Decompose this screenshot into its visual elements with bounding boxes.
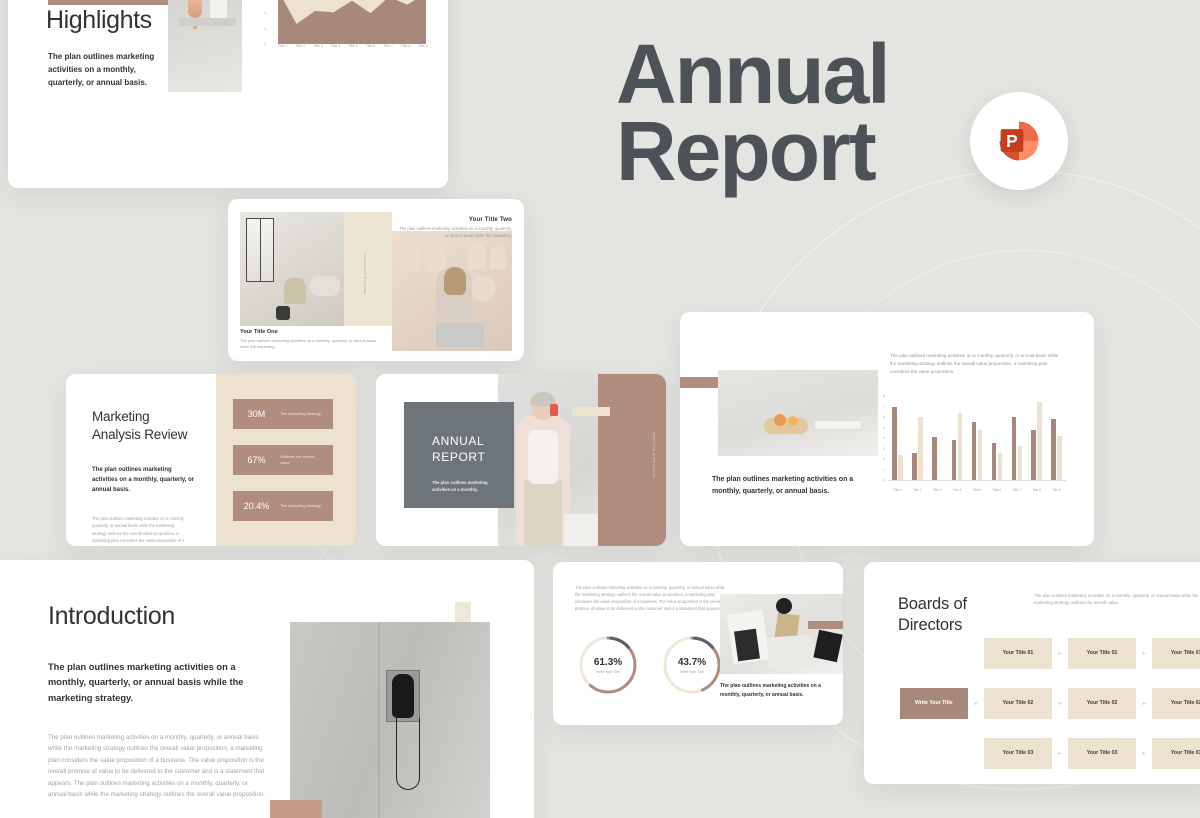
area-chart: considers the value proposition. 0246810…: [262, 0, 428, 99]
tray-shape: [178, 18, 236, 26]
bar-series-1: [912, 453, 917, 480]
accent-bar: [48, 0, 179, 5]
bar-chart-ytick: 8: [883, 394, 885, 398]
chair-shape: [284, 278, 306, 304]
arrow-icon: ▸: [1136, 650, 1152, 657]
donut-chart: 61.3%Write Your Title: [577, 634, 639, 696]
highlights-body: The plan outlines marketing activities o…: [48, 50, 168, 90]
slide-highlights[interactable]: Highlights The plan outlines marketing a…: [8, 0, 448, 188]
boards-box[interactable]: Your Title 03: [1152, 738, 1200, 769]
slide-donut-charts[interactable]: The plan outlines marketing activities o…: [553, 562, 843, 725]
area-chart-xtick: Title 9: [418, 44, 428, 48]
shelf-niche-shape: [468, 241, 486, 269]
bar-series-2: [958, 413, 963, 480]
bar-series-1: [952, 440, 957, 480]
bar-group: [1029, 396, 1044, 480]
vertical-side-text: marketing presentation: [363, 251, 367, 294]
introduction-title: Introduction: [48, 602, 175, 631]
bar-chart-desc: The plan outlines marketing activities o…: [890, 352, 1062, 376]
woman-laptop-photo: [392, 231, 512, 351]
bar-chart-ytick: 3: [883, 447, 885, 451]
stat-value: 20.4%: [233, 501, 280, 511]
powerpoint-glyph: P: [993, 115, 1045, 167]
slide-marketing-analysis[interactable]: Marketing Analysis Review The plan outli…: [66, 374, 356, 546]
bar-chart-x-axis: Title 1Title 2Title 3Title 4Title 5Title…: [890, 488, 1064, 492]
analysis-title-line1: Marketing: [92, 408, 216, 426]
bar-series-1: [972, 422, 977, 480]
bar-chart-xtick: Title 4: [950, 488, 965, 492]
wine-glass-shape: [188, 0, 202, 18]
notebook-shape: [734, 629, 760, 662]
boards-row: Write Your Title▸Your Title 02▸Your Titl…: [900, 680, 1200, 726]
boards-box[interactable]: Your Title 03: [984, 738, 1052, 769]
donut-value: 61.3%: [594, 657, 622, 668]
tray-shape: [814, 420, 862, 430]
bar-series-1: [932, 437, 937, 480]
arrow-spacer: [968, 650, 984, 656]
arrow-icon: ▸: [1136, 750, 1152, 757]
donut-chart: 43.7%Write Your Title: [661, 634, 723, 696]
your-title-two-heading: Your Title Two: [396, 217, 512, 223]
slide-your-titles[interactable]: marketing presentation Your Title Two Th…: [228, 199, 524, 361]
vertical-side-text: marketing presentation: [652, 432, 656, 478]
notebook-shape: [813, 630, 842, 662]
boards-box[interactable]: Your Title 02: [1068, 688, 1136, 719]
annual-title-line2: REPORT: [432, 450, 514, 466]
svg-text:P: P: [1006, 131, 1018, 151]
boards-desc: The plan outlines marketing activities o…: [1034, 592, 1200, 607]
area-chart-x-axis: Title 1Title 2Title 3Title 4Title 5Title…: [278, 44, 428, 48]
bar-chart-ytick: 6: [883, 415, 885, 419]
boards-box[interactable]: Your Title 01: [984, 638, 1052, 669]
notebook-shape: [767, 635, 813, 670]
bar-group: [970, 396, 985, 480]
area-chart-xtick: Title 1: [278, 44, 288, 48]
fruit-shape: [788, 416, 798, 426]
payphone-photo: [290, 622, 490, 818]
bar-chart-xtick: Title 8: [1029, 488, 1044, 492]
interior-photo: [240, 212, 344, 326]
brown-panel: marketing presentation: [598, 374, 666, 546]
arrow-icon: ▸: [1052, 750, 1068, 757]
bar-series-2: [1018, 446, 1023, 480]
bar-series-2: [1037, 402, 1042, 480]
stat-caption: The marketing strategy: [280, 503, 324, 509]
bar-series-2: [918, 417, 923, 480]
stat-value: 30M: [233, 409, 280, 419]
shelf-niche-shape: [490, 245, 506, 269]
donut-chart-group: 61.3%Write Your Title43.7%Write Your Tit…: [577, 634, 723, 696]
slide-boards-of-directors[interactable]: Boards of Directors The plan outlines ma…: [864, 562, 1200, 784]
arrow-icon: ▸: [968, 700, 984, 707]
arrow-icon: ▸: [1052, 700, 1068, 707]
shelf-niche-shape: [400, 241, 420, 271]
table-shape: [276, 306, 290, 320]
pants-shape: [524, 480, 562, 546]
your-title-one-block: Your Title One The plan outlines marketi…: [240, 329, 380, 351]
phone-shape: [550, 404, 558, 416]
bar-series-1: [1051, 419, 1056, 480]
bar-series-2: [978, 430, 983, 480]
desk-objects-photo: [720, 594, 843, 674]
stat-card: 67% Outlines the overall value: [233, 445, 333, 475]
bar-chart-xtick: Title 1: [890, 488, 905, 492]
donut-desc: The plan outlines marketing activities o…: [575, 584, 731, 613]
bar-chart-xtick: Title 7: [1009, 488, 1024, 492]
boards-org-grid: Your Title 01▸Your Title 01▸Your Title 0…: [900, 630, 1200, 780]
window-shape: [246, 218, 274, 282]
boards-box[interactable]: Your Title 03: [1068, 738, 1136, 769]
boards-lead-box[interactable]: Write Your Title: [900, 688, 968, 719]
area-chart-xtick: Title 5: [348, 44, 358, 48]
your-title-two-block: Your Title Two The plan outlines marketi…: [396, 217, 512, 239]
bar-chart-xtick: Title 6: [989, 488, 1004, 492]
cream-accent-bar: [572, 407, 610, 416]
bar-series-1: [992, 443, 997, 480]
your-title-one-heading: Your Title One: [240, 329, 380, 335]
area-chart-xtick: Title 8: [401, 44, 411, 48]
annual-body: The plan outlines marketing activities o…: [432, 479, 492, 493]
phone-cord-shape: [396, 718, 420, 790]
bar-group: [1049, 396, 1064, 480]
area-chart-xtick: Title 2: [296, 44, 306, 48]
bar-chart-ytick: 4: [883, 436, 885, 440]
bar-chart-caption: The plan outlines marketing activities o…: [712, 474, 862, 498]
stat-card: 20.4% The marketing strategy: [233, 491, 333, 521]
boards-row: Your Title 01▸Your Title 01▸Your Title 0…: [900, 630, 1200, 676]
bar-group: [1009, 396, 1024, 480]
powerpoint-icon: P: [970, 92, 1068, 190]
bar-group: [910, 396, 925, 480]
top-shape: [528, 430, 558, 484]
boards-row: Your Title 03▸Your Title 03▸Your Title 0…: [900, 730, 1200, 776]
fruit-shape: [774, 414, 786, 426]
annual-title-line1: ANNUAL: [432, 434, 514, 450]
area-chart-xtick: Title 7: [383, 44, 393, 48]
bar-chart-ytick: 1: [883, 468, 885, 472]
stat-value: 67%: [233, 455, 280, 465]
boards-box[interactable]: Your Title 01: [1068, 638, 1136, 669]
highlights-photo: [168, 0, 242, 92]
arrow-icon: ▸: [1052, 650, 1068, 657]
boards-box[interactable]: Your Title 01: [1152, 638, 1200, 669]
area-chart-xtick: Title 4: [331, 44, 341, 48]
introduction-body: The plan outlines marketing activities o…: [48, 732, 266, 801]
donut-caption: The plan outlines marketing activities o…: [720, 682, 840, 699]
area-chart-xtick: Title 6: [366, 44, 376, 48]
analysis-body: The plan outlines marketing activities o…: [92, 515, 187, 546]
boards-box[interactable]: Your Title 02: [984, 688, 1052, 719]
donut-label: 61.3%Write Your Title: [577, 634, 639, 696]
stat-caption: Outlines the overall value: [280, 454, 324, 466]
slide-introduction[interactable]: Introduction The plan outlines marketing…: [0, 560, 534, 818]
shelf-niche-shape: [426, 239, 446, 271]
bar-chart-xtick: Title 2: [910, 488, 925, 492]
camera-shape: [776, 598, 792, 614]
donut-label: 43.7%Write Your Title: [661, 634, 723, 696]
bar-series-1: [1012, 417, 1017, 480]
analysis-title-line2: Analysis Review: [92, 426, 216, 444]
laptop-shape: [436, 323, 484, 347]
round-niche-shape: [470, 275, 496, 301]
cream-panel: [344, 212, 392, 326]
stat-caption: The marketing strategy: [280, 411, 324, 417]
area-chart-plot: [262, 0, 428, 44]
introduction-lead: The plan outlines marketing activities o…: [48, 660, 268, 706]
boards-title-line1: Boards of: [898, 595, 967, 613]
annual-report-title-box: ANNUAL REPORT The plan outlines marketin…: [404, 402, 514, 508]
bar-series-2: [998, 453, 1003, 480]
arrow-spacer: [968, 750, 984, 756]
area-chart-xtick: Title 3: [313, 44, 323, 48]
bar-chart-ytick: 5: [883, 426, 885, 430]
your-title-one-body: The plan outlines marketing activities o…: [240, 338, 380, 351]
bar-series-1: [1031, 430, 1036, 480]
hair-shape: [444, 267, 466, 295]
bar-group: [890, 396, 905, 480]
sofa-shape: [310, 276, 340, 296]
boards-spacer: [900, 638, 968, 669]
bar-chart-xtick: Title 9: [1049, 488, 1064, 492]
boards-spacer: [900, 738, 968, 769]
bar-chart: 012345678 Title 1Title 2Title 3Title 4Ti…: [884, 396, 1064, 492]
boards-box[interactable]: Your Title 02: [1152, 688, 1200, 719]
bar-chart-y-axis: 012345678: [876, 396, 886, 480]
accent-bar: [808, 621, 843, 629]
bar-series-2: [898, 455, 903, 480]
bar-series-1: [892, 407, 897, 481]
wall-seam-shape: [378, 622, 380, 818]
bar-chart-xtick: Title 5: [970, 488, 985, 492]
arrow-icon: ▸: [1136, 700, 1152, 707]
bar-group: [989, 396, 1004, 480]
cup-shape: [210, 0, 227, 18]
bar-chart-ytick: 7: [883, 405, 885, 409]
bar-chart-ytick: 0: [883, 478, 885, 482]
brown-accent-block: [270, 800, 322, 818]
analysis-text-panel: Marketing Analysis Review The plan outli…: [66, 374, 216, 546]
bar-group: [930, 396, 945, 480]
bar-series-2: [1057, 436, 1062, 480]
handset-shape: [392, 674, 414, 718]
bar-chart-columns: [890, 396, 1064, 480]
slide-annual-report[interactable]: marketing presentation ANNUAL REPORT The…: [376, 374, 666, 546]
donut-value: 43.7%: [678, 657, 706, 668]
bar-chart-xtick: Title 3: [930, 488, 945, 492]
stat-card: 30M The marketing strategy: [233, 399, 333, 429]
table-food-photo: [718, 370, 878, 456]
bar-group: [950, 396, 965, 480]
plate-shape: [764, 418, 808, 434]
bar-chart-ytick: 2: [883, 457, 885, 461]
analysis-stats-panel: 30M The marketing strategy 67% Outlines …: [216, 374, 356, 546]
analysis-lead: The plan outlines marketing activities o…: [92, 466, 197, 495]
donut-caption: Write Your Title: [596, 670, 620, 674]
your-title-two-body: The plan outlines marketing activities o…: [396, 226, 512, 239]
donut-caption: Write Your Title: [680, 670, 704, 674]
hero-title-line1: Annual: [616, 36, 1136, 113]
